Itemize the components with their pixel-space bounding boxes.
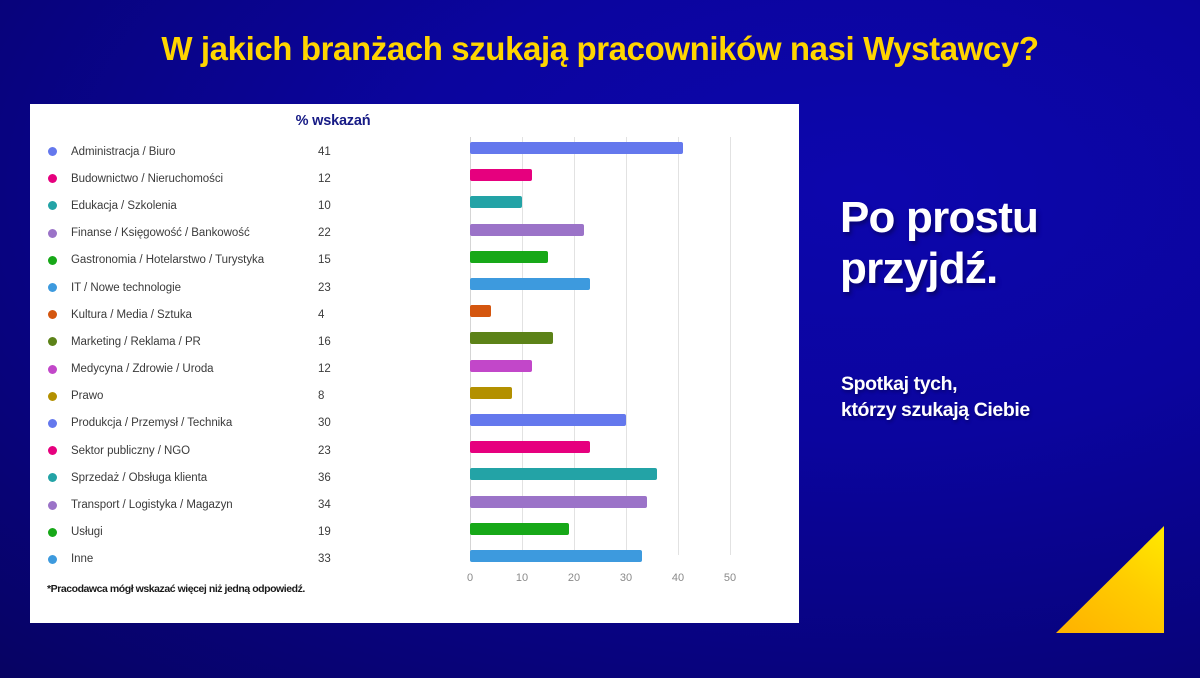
legend-row: Budownictwo / Nieruchomości12 (46, 165, 396, 192)
gridline (626, 137, 627, 555)
legend-value: 23 (318, 282, 354, 294)
chart-bar (470, 196, 522, 208)
legend-color-dot-icon (48, 365, 57, 374)
legend-category-label: Usługi (71, 526, 103, 538)
chart-bar (470, 360, 532, 372)
legend-value: 23 (318, 445, 354, 457)
legend-row: Edukacja / Szkolenia10 (46, 192, 396, 219)
chart-bar (470, 142, 683, 154)
legend-category-label: Transport / Logistyka / Magazyn (71, 499, 233, 511)
legend-value: 36 (318, 472, 354, 484)
legend-row: Transport / Logistyka / Magazyn34 (46, 491, 396, 518)
legend-row: Kultura / Media / Sztuka4 (46, 301, 396, 328)
legend-color-dot-icon (48, 392, 57, 401)
slide-canvas: W jakich branżach szukają pracowników na… (0, 0, 1200, 678)
legend-value: 12 (318, 173, 354, 185)
legend-category-label: Inne (71, 553, 93, 565)
legend-category-label: Sektor publiczny / NGO (71, 445, 190, 457)
legend-value: 16 (318, 336, 354, 348)
legend-color-dot-icon (48, 419, 57, 428)
chart-bar (470, 332, 553, 344)
legend-value: 41 (318, 146, 354, 158)
promo-subcopy-line-1: Spotkaj tych, (841, 371, 1030, 397)
footnote: *Pracodawca mógł wskazać więcej niż jedn… (47, 583, 305, 595)
legend-color-dot-icon (48, 310, 57, 319)
gridline (678, 137, 679, 555)
legend-row: IT / Nowe technologie23 (46, 274, 396, 301)
x-axis-tick-label: 30 (606, 572, 646, 584)
chart-bar (470, 305, 491, 317)
legend-row: Produkcja / Przemysł / Technika30 (46, 410, 396, 437)
legend-row: Usługi19 (46, 519, 396, 546)
chart-card: % wskazań Administracja / Biuro41Budowni… (30, 104, 799, 623)
legend-color-dot-icon (48, 256, 57, 265)
legend-color-dot-icon (48, 555, 57, 564)
x-axis-tick-label: 10 (502, 572, 542, 584)
chart-bar (470, 414, 626, 426)
legend-color-dot-icon (48, 337, 57, 346)
legend-color-dot-icon (48, 501, 57, 510)
legend-category-label: Sprzedaż / Obsługa klienta (71, 472, 207, 484)
page-title: W jakich branżach szukają pracowników na… (0, 30, 1200, 68)
legend-value: 12 (318, 363, 354, 375)
legend-row: Medycyna / Zdrowie / Uroda12 (46, 356, 396, 383)
legend-value: 30 (318, 417, 354, 429)
legend-row: Administracja / Biuro41 (46, 138, 396, 165)
chart-bar (470, 550, 642, 562)
legend-color-dot-icon (48, 229, 57, 238)
legend-category-label: Budownictwo / Nieruchomości (71, 173, 223, 185)
value-column-header: % wskazań (278, 113, 388, 129)
legend-category-label: Produkcja / Przemysł / Technika (71, 417, 232, 429)
legend-row: Finanse / Księgowość / Bankowość22 (46, 220, 396, 247)
legend-category-label: Prawo (71, 390, 103, 402)
bar-chart-plot-area: 01020304050 (441, 137, 786, 592)
legend-color-dot-icon (48, 473, 57, 482)
chart-bar (470, 496, 647, 508)
legend-category-label: Medycyna / Zdrowie / Uroda (71, 363, 214, 375)
decorative-triangle-icon (1056, 526, 1164, 633)
legend-row: Inne33 (46, 546, 396, 573)
legend-row: Sektor publiczny / NGO23 (46, 437, 396, 464)
promo-slogan: Po prostu przyjdź. (840, 192, 1038, 294)
x-axis-tick-label: 40 (658, 572, 698, 584)
legend-category-label: Marketing / Reklama / PR (71, 336, 201, 348)
legend-category-label: Administracja / Biuro (71, 146, 175, 158)
promo-slogan-line-2: przyjdź. (840, 243, 1038, 294)
legend-value: 4 (318, 309, 354, 321)
promo-slogan-line-1: Po prostu (840, 192, 1038, 243)
legend-row: Marketing / Reklama / PR16 (46, 328, 396, 355)
legend-color-dot-icon (48, 528, 57, 537)
chart-bar (470, 278, 590, 290)
legend-category-label: Gastronomia / Hotelarstwo / Turystyka (71, 254, 264, 266)
x-axis-tick-label: 0 (450, 572, 490, 584)
legend-value: 22 (318, 227, 354, 239)
legend-value: 8 (318, 390, 354, 402)
legend-category-label: Finanse / Księgowość / Bankowość (71, 227, 250, 239)
legend-value: 34 (318, 499, 354, 511)
legend-value: 10 (318, 200, 354, 212)
legend-category-label: IT / Nowe technologie (71, 282, 181, 294)
legend-category-label: Kultura / Media / Sztuka (71, 309, 192, 321)
legend-row: Gastronomia / Hotelarstwo / Turystyka15 (46, 247, 396, 274)
legend-color-dot-icon (48, 446, 57, 455)
legend-category-label: Edukacja / Szkolenia (71, 200, 177, 212)
legend-color-dot-icon (48, 283, 57, 292)
chart-bar (470, 523, 569, 535)
chart-bar (470, 251, 548, 263)
chart-bar (470, 468, 657, 480)
legend-color-dot-icon (48, 201, 57, 210)
x-axis-tick-label: 50 (710, 572, 750, 584)
chart-bar (470, 387, 512, 399)
legend-value: 33 (318, 553, 354, 565)
legend-row: Sprzedaż / Obsługa klienta36 (46, 464, 396, 491)
legend-value: 19 (318, 526, 354, 538)
legend-color-dot-icon (48, 174, 57, 183)
promo-subcopy-line-2: którzy szukają Ciebie (841, 397, 1030, 423)
gridline (574, 137, 575, 555)
gridline (522, 137, 523, 555)
x-axis-tick-label: 20 (554, 572, 594, 584)
category-legend-list: Administracja / Biuro41Budownictwo / Nie… (46, 138, 396, 573)
gridline (730, 137, 731, 555)
chart-bar (470, 441, 590, 453)
legend-color-dot-icon (48, 147, 57, 156)
promo-subcopy: Spotkaj tych, którzy szukają Ciebie (841, 371, 1030, 424)
legend-row: Prawo8 (46, 383, 396, 410)
chart-bar (470, 224, 584, 236)
legend-value: 15 (318, 254, 354, 266)
chart-bar (470, 169, 532, 181)
